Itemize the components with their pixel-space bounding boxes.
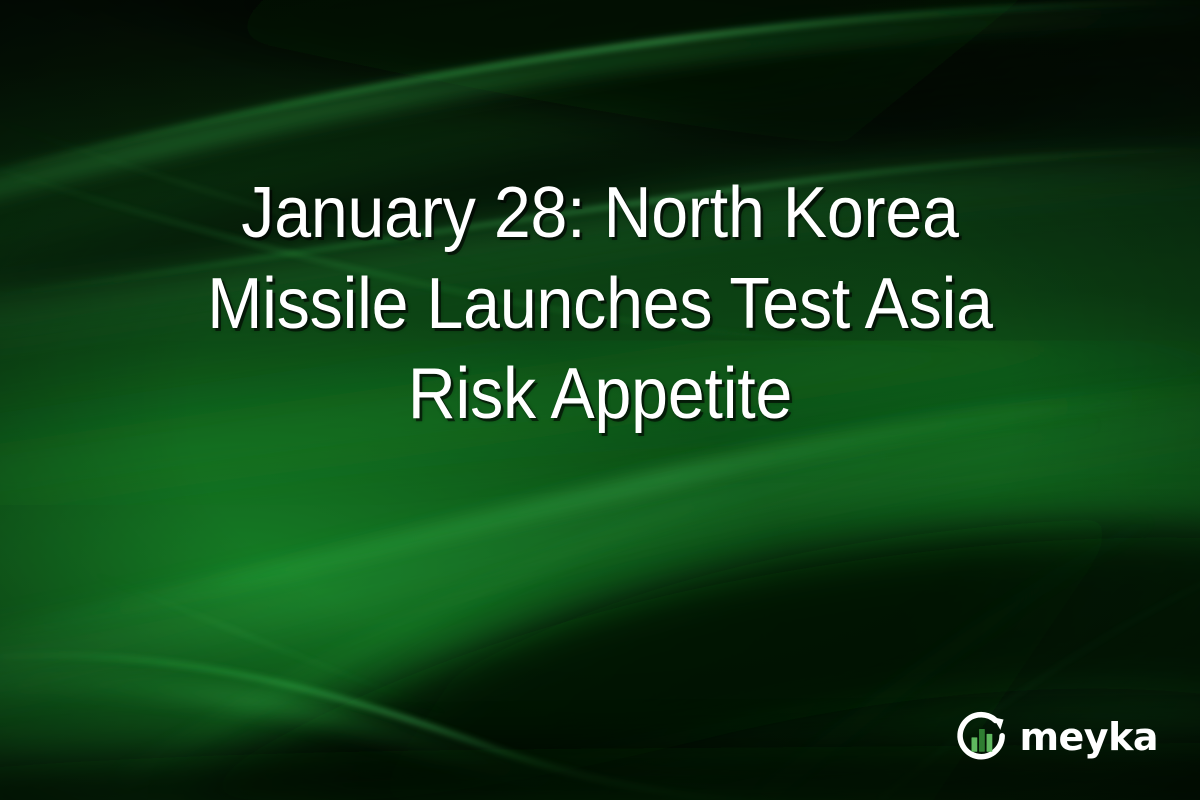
brand-lockup[interactable]: meyka bbox=[954, 708, 1158, 764]
news-card: January 28: North Korea Missile Launches… bbox=[0, 0, 1200, 800]
page-title: January 28: North Korea Missile Launches… bbox=[112, 168, 1087, 440]
headline-block: January 28: North Korea Missile Launches… bbox=[0, 168, 1200, 440]
meyka-logo-icon bbox=[954, 708, 1010, 764]
brand-name: meyka bbox=[1019, 718, 1158, 756]
